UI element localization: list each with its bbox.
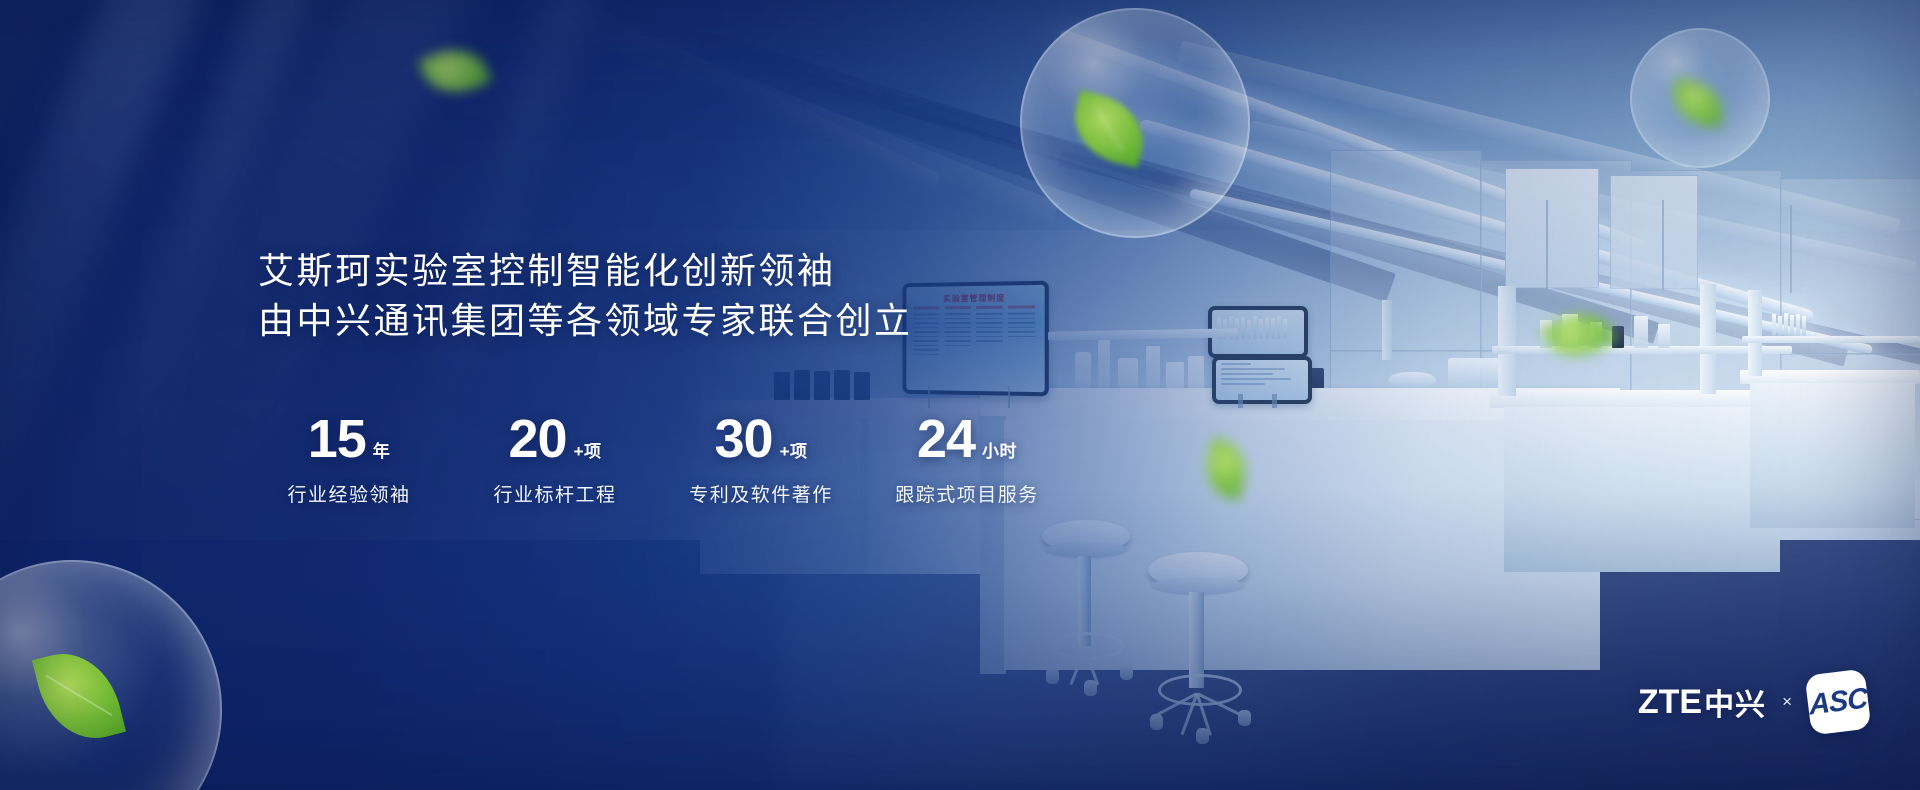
asc-logo: ASC [1805,669,1872,736]
stat-label: 专利及软件著作 [658,480,864,507]
stat-item: 24 小时 跟踪式项目服务 [864,412,1070,507]
zte-chinese-text: 中兴 [1704,680,1766,724]
headline-line-1: 艾斯珂实验室控制智能化创新领袖 [258,246,913,296]
stat-unit: 小时 [982,437,1017,462]
headline-line-2: 由中兴通讯集团等各领域专家联合创立 [258,296,913,346]
stat-number: 24 [917,412,975,466]
bottom-shade-overlay [0,490,1920,790]
stat-label: 行业经验领袖 [246,480,452,507]
logo-separator-icon: × [1782,692,1792,712]
stat-label: 跟踪式项目服务 [864,480,1070,507]
stat-item: 15 年 行业经验领袖 [246,412,452,507]
stat-number: 30 [714,412,772,466]
stat-unit: +项 [574,437,602,462]
hero-banner: 实验室管理制度 [0,0,1920,790]
zte-logo: ZTE 中兴 [1638,680,1766,724]
zte-latin-text: ZTE [1638,683,1702,722]
logo-lockup: ZTE 中兴 × ASC [1638,672,1868,732]
stats-row: 15 年 行业经验领袖 20 +项 行业标杆工程 30 +项 专利及软件著作 2… [246,412,1070,507]
headline: 艾斯珂实验室控制智能化创新领袖 由中兴通讯集团等各领域专家联合创立 [258,246,913,345]
asc-logo-text: ASC [1808,682,1868,722]
stat-number: 20 [508,412,566,466]
stat-label: 行业标杆工程 [452,480,658,507]
stat-unit: 年 [373,437,391,462]
stat-number: 15 [308,412,366,466]
stat-item: 30 +项 专利及软件著作 [658,412,864,507]
stat-item: 20 +项 行业标杆工程 [452,412,658,507]
stat-unit: +项 [780,437,808,462]
